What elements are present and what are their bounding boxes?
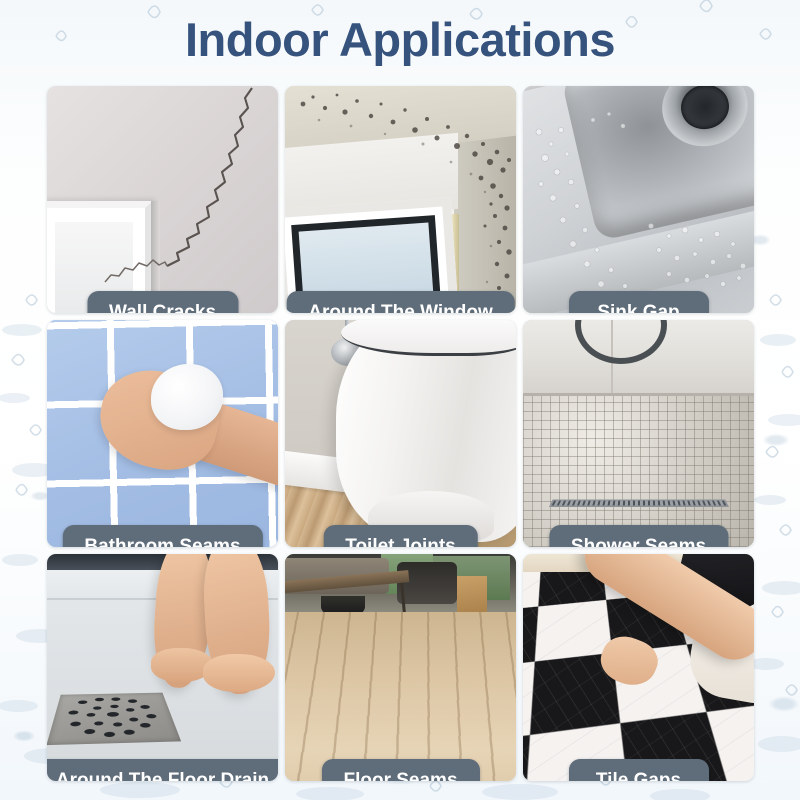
right-toes: [203, 654, 275, 692]
page-header: Indoor Applications: [0, 0, 800, 78]
bathroom-seams-photo: [47, 320, 278, 547]
tile-label-wall-cracks: Wall Cracks: [87, 291, 238, 313]
applications-grid: Wall Cracks: [47, 86, 754, 781]
square-floor-drain: [47, 693, 181, 746]
wall-cracks-photo: [47, 86, 278, 313]
hardwood-planks: [285, 612, 516, 781]
page-title: Indoor Applications: [185, 12, 615, 67]
floor-seams-photo: [285, 554, 516, 781]
tile-label-floor-seams: Floor Seams: [321, 759, 479, 781]
toilet-joints-photo: [285, 320, 516, 547]
tile-label-bathroom-seams: Bathroom Seams: [62, 525, 262, 547]
tile-shower-seams[interactable]: Shower Seams: [523, 320, 754, 547]
tile-label-shower-seams: Shower Seams: [549, 525, 728, 547]
tile-around-the-floor-drain[interactable]: Around The Floor Drain: [47, 554, 278, 781]
drain-grate-holes: [47, 693, 181, 746]
tile-around-the-window[interactable]: Around The Window: [285, 86, 516, 313]
around-the-floor-drain-photo: [47, 554, 278, 781]
mold-spots: [285, 86, 516, 313]
tile-label-sink-gap: Sink Gap: [569, 291, 709, 313]
wood-side-table: [457, 576, 487, 616]
tile-label-tile-gaps: Tile Gaps: [569, 759, 709, 781]
sink-gap-photo: [523, 86, 754, 313]
tile-label-around-the-floor-drain: Around The Floor Drain: [47, 759, 278, 781]
wall-crack-line: [47, 86, 278, 313]
shower-seams-photo: [523, 320, 754, 547]
tile-wall-cracks[interactable]: Wall Cracks: [47, 86, 278, 313]
tile-toilet-joints[interactable]: Toilet Joints: [285, 320, 516, 547]
tile-tile-gaps[interactable]: Tile Gaps: [523, 554, 754, 781]
tile-sink-gap[interactable]: Sink Gap: [523, 86, 754, 313]
tile-floor-seams[interactable]: Floor Seams: [285, 554, 516, 781]
page-root: Indoor Applications Wall Cracks: [0, 0, 800, 800]
around-the-window-photo: [285, 86, 516, 313]
tile-label-toilet-joints: Toilet Joints: [323, 525, 477, 547]
tile-gaps-photo: [523, 554, 754, 781]
tile-label-around-the-window: Around The Window: [286, 291, 515, 313]
armchair: [397, 562, 457, 604]
cleaning-cloth: [151, 364, 223, 430]
tile-bathroom-seams[interactable]: Bathroom Seams: [47, 320, 278, 547]
water-droplets-on-sink: [523, 86, 754, 313]
